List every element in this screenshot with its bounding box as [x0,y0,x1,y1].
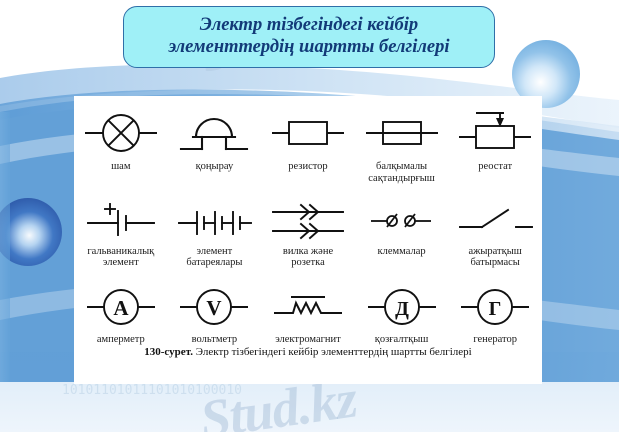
symbol-label: резистор [288,161,327,173]
symbol-cell-rheostat: реостат [448,108,542,185]
symbol-cell-resistor: резистор [261,108,355,185]
figure-caption: 130-сурет. Электр тізбегіндегі кейбір эл… [74,346,542,358]
symbol-row-1: шам қоңырау [74,108,542,185]
title-line-2: элементтердің шартты белгілері [168,37,449,57]
switch-icon [452,197,538,243]
symbol-label: электромагнит [275,334,341,346]
symbol-cell-lamp: шам [74,108,168,185]
lamp-icon [78,108,164,158]
svg-text:10101101011101010100010: 10101101011101010100010 [62,383,242,398]
resistor-icon [265,108,351,158]
symbol-label: балқымалысақтандырғыш [368,161,435,185]
symbol-label: реостат [478,161,512,173]
battery-icon [171,197,257,243]
symbol-label: вольтметр [192,334,238,346]
ammeter-letter: А [113,296,129,320]
symbol-cell-galvanic-cell: гальваникалықэлемент [74,197,168,270]
symbol-label: клеммалар [378,246,426,258]
symbol-label: вилка жәнерозетка [283,246,333,270]
plug-socket-icon [265,197,351,243]
decorative-digits: 10101101011101010100010 [62,383,242,398]
slide-title-box: Электр тізбегіндегі кейбір элементтердің… [123,6,495,68]
generator-letter: Г [489,298,502,320]
terminals-icon [359,197,445,243]
symbol-label: шам [111,161,130,173]
bell-icon [171,108,257,158]
symbol-label: ажыратқышбатырмасы [468,246,521,270]
symbol-cell-ammeter: А амперметр [74,283,168,346]
symbol-cell-electromagnet: электромагнит [261,283,355,346]
decorative-sphere-left [0,198,62,266]
symbol-row-3: А амперметр V вольтметр [74,283,542,346]
symbol-row-2: гальваникалықэлемент [74,197,542,270]
symbol-cell-switch: ажыратқышбатырмасы [448,197,542,270]
symbol-cell-battery: элементбатареялары [168,197,262,270]
symbol-label: қоңырау [196,161,234,173]
fuse-icon [359,108,445,158]
electromagnet-icon [265,283,351,331]
rheostat-icon [452,108,538,158]
motor-letter: Д [395,298,409,320]
voltmeter-icon: V [171,283,257,331]
title-line-1: Электр тізбегіндегі кейбір [200,15,418,35]
symbol-cell-fuse: балқымалысақтандырғыш [355,108,449,185]
symbol-cell-voltmeter: V вольтметр [168,283,262,346]
symbol-cell-bell: қоңырау [168,108,262,185]
symbol-label: қозғалтқыш [375,334,429,346]
symbol-label: амперметр [97,334,145,346]
slide-canvas: 10101101011101010100010 Stud.kz Stud.kz … [0,0,619,432]
symbol-label: генератор [473,334,517,346]
voltmeter-letter: V [207,296,222,320]
symbol-label: элементбатареялары [186,246,242,270]
figure-panel: шам қоңырау [74,96,542,384]
generator-icon: Г [452,283,538,331]
symbol-cell-terminals: клеммалар [355,197,449,270]
figure-caption-text: Электр тізбегіндегі кейбір элементтердің… [193,346,472,358]
galvanic-cell-icon [78,197,164,243]
symbol-label: гальваникалықэлемент [87,246,154,270]
symbol-cell-motor: Д қозғалтқыш [355,283,449,346]
page-title: Электр тізбегіндегі кейбір элементтердің… [160,15,457,59]
ammeter-icon: А [78,283,164,331]
figure-caption-number: 130-сурет. [144,346,193,358]
symbol-cell-plug-socket: вилка жәнерозетка [261,197,355,270]
symbol-cell-generator: Г генератор [448,283,542,346]
motor-icon: Д [359,283,445,331]
